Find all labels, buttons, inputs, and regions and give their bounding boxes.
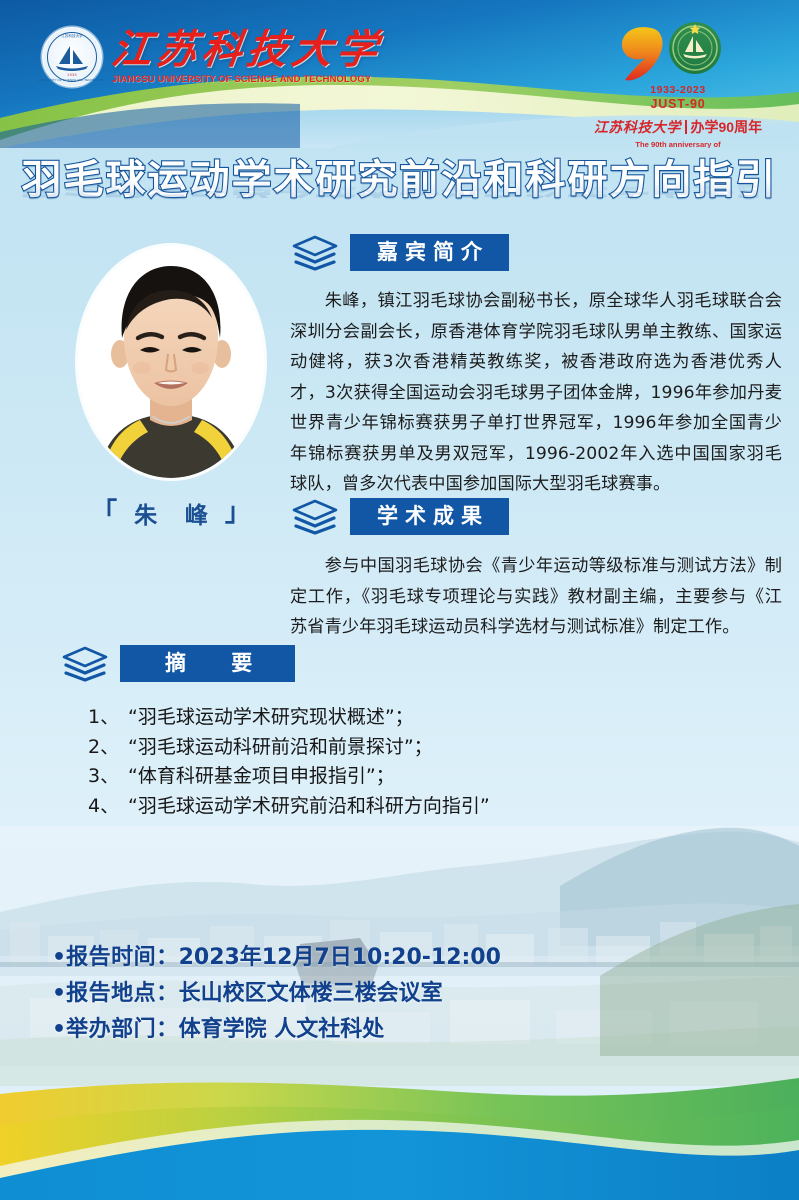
section-label-guest-intro: 嘉宾简介 [350, 234, 509, 271]
event-organizer-label: 举办部门： [66, 1017, 179, 1042]
academic-text: 参与中国羽毛球协会《青少年运动等级标准与测试方法》制定工作，《羽毛球专项理论与实… [290, 556, 782, 637]
speaker-portrait-illustration [78, 246, 264, 478]
abstract-list: 1、“羽毛球运动学术研究现状概述”； 2、“羽毛球运动科研前沿和前景探讨”； 3… [88, 703, 708, 821]
event-details: •报告时间：2023年12月7日10:20-12:00 •报告地点：长山校区文体… [52, 940, 501, 1048]
abstract-item-number: 4、 [88, 792, 128, 822]
seal-arc-bottom: UNIVERSITY OF SCIENCE AND TECHNOLOGY [38, 78, 106, 82]
layers-stack-icon [62, 646, 108, 682]
list-item: 1、“羽毛球运动学术研究现状概述”； [88, 703, 708, 733]
section-header-abstract: 摘 要 [62, 645, 295, 682]
event-location-row: •报告地点：长山校区文体楼三楼会议室 [52, 976, 501, 1012]
anniversary-emblem: 1933-2023 JUST-90 江苏科技大学 办学90周年 The 90th… [593, 18, 763, 148]
abstract-item-text: “羽毛球运动科研前沿和前景探讨”； [128, 736, 433, 758]
poster-root: 江苏科技大学 1933 UNIVERSITY OF SCIENCE AND TE… [0, 0, 799, 1200]
section-label-academic: 学术成果 [350, 498, 509, 535]
anniversary-cn-suffix: 办学90周年 [691, 117, 763, 137]
list-item: 3、“体育科研基金项目申报指引”； [88, 762, 708, 792]
seal-year: 1933 [67, 72, 77, 77]
layers-stack-icon [292, 235, 338, 271]
abstract-item-text: “羽毛球运动学术研究前沿和科研方向指引” [128, 795, 490, 817]
abstract-item-number: 3、 [88, 762, 128, 792]
event-location-label: 报告地点： [66, 981, 179, 1006]
university-name-en: JIANGSU UNIVERSITY OF SCIENCE AND TECHNO… [112, 74, 382, 85]
section-header-academic: 学术成果 [292, 498, 509, 535]
abstract-item-text: “体育科研基金项目申报指引”； [128, 765, 395, 787]
abstract-item-number: 1、 [88, 703, 128, 733]
university-name-cn: 江苏科技大学 [109, 29, 385, 71]
bracket-right: 」 [225, 500, 251, 526]
list-item: 4、“羽毛球运动学术研究前沿和科研方向指引” [88, 792, 708, 822]
university-seal-icon: 江苏科技大学 1933 UNIVERSITY OF SCIENCE AND TE… [42, 27, 102, 87]
anniversary-code: JUST-90 [593, 97, 763, 111]
academic-body: 参与中国羽毛球协会《青少年运动等级标准与测试方法》制定工作，《羽毛球专项理论与实… [290, 551, 782, 643]
layers-stack-icon [292, 499, 338, 535]
bracket-left: 「 [91, 500, 117, 526]
seal-arc-top: 江苏科技大学 [61, 34, 83, 39]
bullet-icon: • [52, 945, 66, 970]
speaker-name-plate: 「 朱 峰 」 [78, 496, 264, 530]
event-organizer-value: 体育学院 人文社科处 [179, 1017, 385, 1042]
sailboat-icon [55, 44, 89, 72]
university-logo: 江苏科技大学 1933 UNIVERSITY OF SCIENCE AND TE… [42, 27, 382, 87]
guest-intro-body: 朱峰，镇江羽毛球协会副秘书长，原全球华人羽毛球联合会深圳分会副会长，原香港体育学… [290, 286, 782, 500]
anniversary-90-icon [603, 18, 753, 84]
list-item: 2、“羽毛球运动科研前沿和前景探讨”； [88, 733, 708, 763]
event-time-row: •报告时间：2023年12月7日10:20-12:00 [52, 940, 501, 976]
anniversary-cn-name: 江苏科技大学 [594, 117, 681, 137]
event-location-value: 长山校区文体楼三楼会议室 [179, 981, 443, 1006]
page-title-reflection: 羽毛球运动学术研究前沿和科研方向指引 [0, 175, 799, 198]
abstract-item-number: 2、 [88, 733, 128, 763]
anniversary-divider [685, 120, 687, 134]
bullet-icon: • [52, 1017, 66, 1042]
abstract-item-text: “羽毛球运动学术研究现状概述”； [128, 706, 414, 728]
event-time-value: 2023年12月7日10:20-12:00 [179, 945, 501, 970]
speaker-portrait [78, 246, 264, 478]
anniversary-years: 1933-2023 [593, 84, 763, 96]
section-label-abstract: 摘 要 [120, 645, 295, 682]
anniversary-en-line1: The 90th anniversary of [593, 140, 763, 148]
poster-title-block: 羽毛球运动学术研究前沿和科研方向指引 羽毛球运动学术研究前沿和科研方向指引 [0, 158, 799, 242]
event-organizer-row: •举办部门：体育学院 人文社科处 [52, 1012, 501, 1048]
event-time-label: 报告时间： [66, 945, 179, 970]
header-banner: 江苏科技大学 1933 UNIVERSITY OF SCIENCE AND TE… [0, 0, 799, 148]
section-header-guest-intro: 嘉宾简介 [292, 234, 509, 271]
speaker-name: 朱 峰 [123, 496, 219, 530]
bullet-icon: • [52, 981, 66, 1006]
guest-intro-text: 朱峰，镇江羽毛球协会副秘书长，原全球华人羽毛球联合会深圳分会副会长，原香港体育学… [290, 291, 782, 494]
